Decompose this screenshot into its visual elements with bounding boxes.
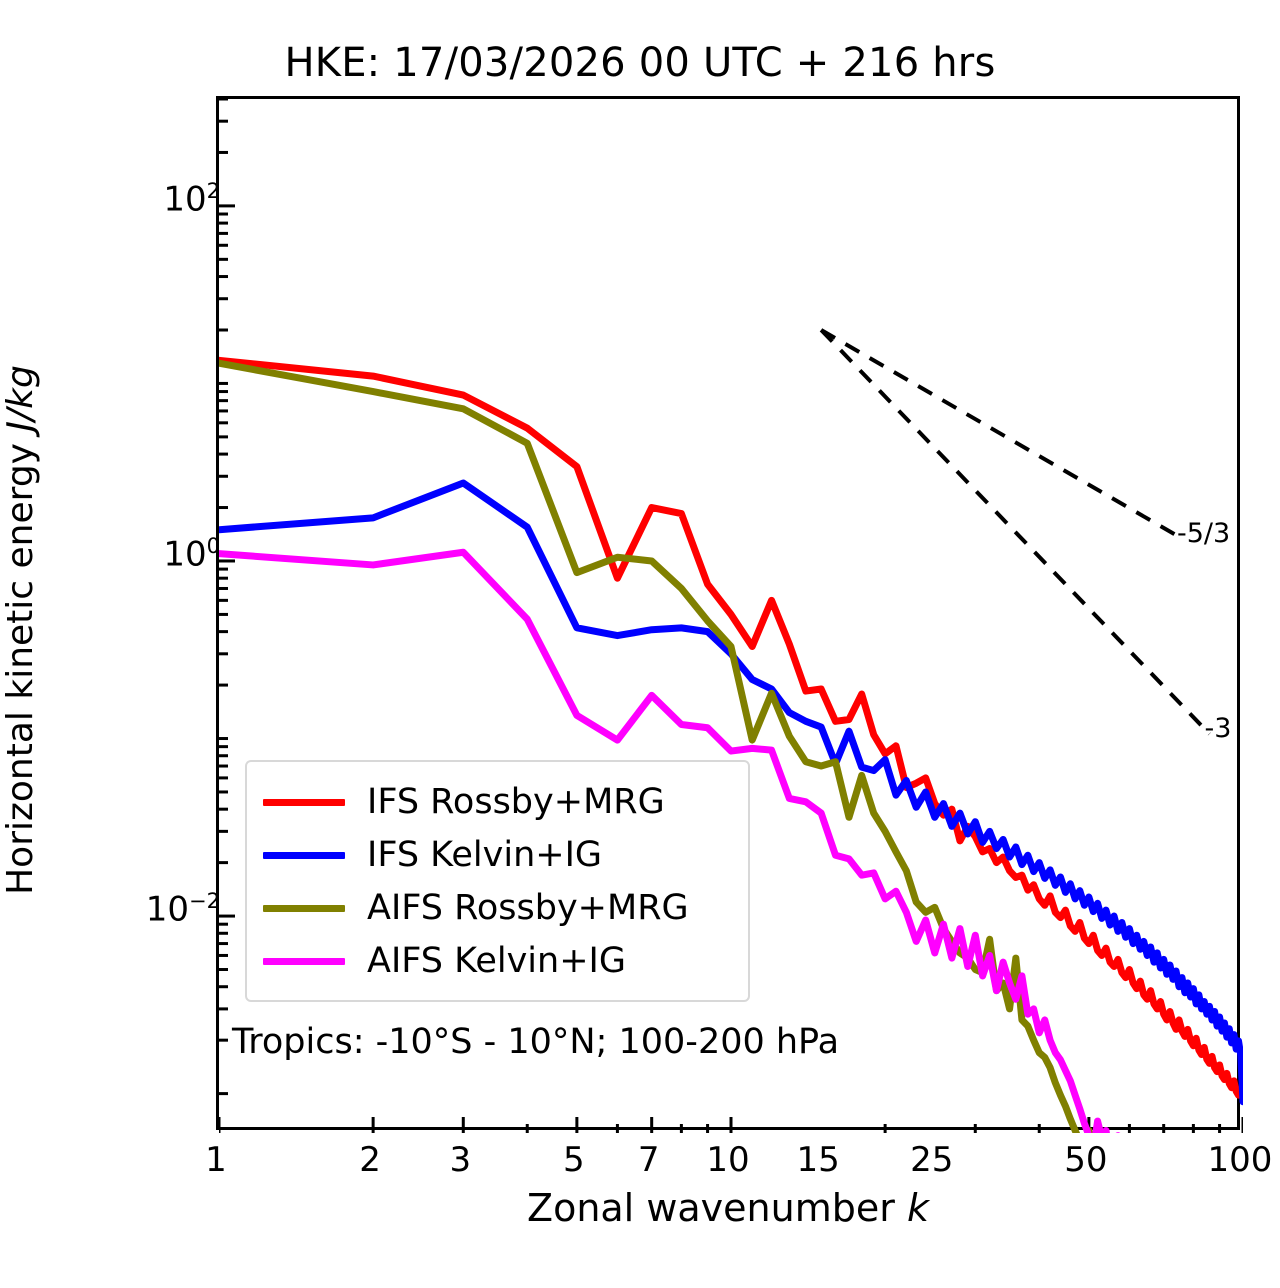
legend-item[interactable]: IFS Rossby+MRG <box>263 776 732 829</box>
legend-color-swatch <box>263 852 345 859</box>
legend-label: IFS Rossby+MRG <box>367 785 665 820</box>
legend-item[interactable]: IFS Kelvin+IG <box>263 829 732 882</box>
x-tick-label: 2 <box>359 1140 381 1180</box>
y-tick-label: 102 <box>163 179 220 219</box>
x-tick-label: 1 <box>205 1140 227 1180</box>
figure-canvas: HKE: 17/03/2026 00 UTC + 216 hrs Horizon… <box>0 0 1280 1288</box>
chart-title: HKE: 17/03/2026 00 UTC + 216 hrs <box>0 40 1280 86</box>
slope-label: -5/3 <box>1177 518 1230 549</box>
x-axis-label-symbol: k <box>907 1186 929 1230</box>
y-axis-label-units: J/kg <box>0 365 41 431</box>
reference-slope-line <box>821 330 1209 734</box>
legend-label: AIFS Kelvin+IG <box>367 944 626 979</box>
series-line <box>219 363 1122 1133</box>
y-tick-label: 100 <box>163 534 220 574</box>
legend-label: IFS Kelvin+IG <box>367 838 602 873</box>
y-tick-label: 10−2 <box>146 889 220 929</box>
y-axis-label: Horizontal kinetic energy J/kg <box>0 280 60 980</box>
legend-item[interactable]: AIFS Kelvin+IG <box>263 935 732 988</box>
y-tick-mantissa: 10 <box>146 889 189 929</box>
x-tick-label: 50 <box>1064 1140 1107 1180</box>
slope-label: -3 <box>1204 713 1231 744</box>
legend-color-swatch <box>263 958 345 965</box>
data-series-group <box>219 360 1243 1133</box>
reference-slope-lines <box>821 330 1209 734</box>
x-tick-label: 5 <box>563 1140 585 1180</box>
x-tick-label: 25 <box>910 1140 953 1180</box>
x-axis-label: Zonal wavenumber k <box>216 1186 1240 1230</box>
legend-color-swatch <box>263 905 345 912</box>
region-annotation: Tropics: -10°S - 10°N; 100-200 hPa <box>232 1022 839 1062</box>
x-tick-label: 10 <box>706 1140 749 1180</box>
x-tick-label: 7 <box>638 1140 660 1180</box>
x-tick-label: 3 <box>449 1140 471 1180</box>
y-tick-mantissa: 10 <box>163 534 206 574</box>
y-tick-mantissa: 10 <box>163 179 206 219</box>
legend-label: AIFS Rossby+MRG <box>367 891 689 926</box>
legend-color-swatch <box>263 799 345 806</box>
legend-item[interactable]: AIFS Rossby+MRG <box>263 882 732 935</box>
x-tick-label: 15 <box>797 1140 840 1180</box>
x-axis-label-text: Zonal wavenumber <box>527 1186 907 1230</box>
y-axis-label-text: Horizontal kinetic energy <box>0 432 41 895</box>
legend: IFS Rossby+MRGIFS Kelvin+IGAIFS Rossby+M… <box>245 760 750 1002</box>
reference-slope-line <box>821 330 1182 539</box>
x-tick-label: 100 <box>1208 1140 1273 1180</box>
